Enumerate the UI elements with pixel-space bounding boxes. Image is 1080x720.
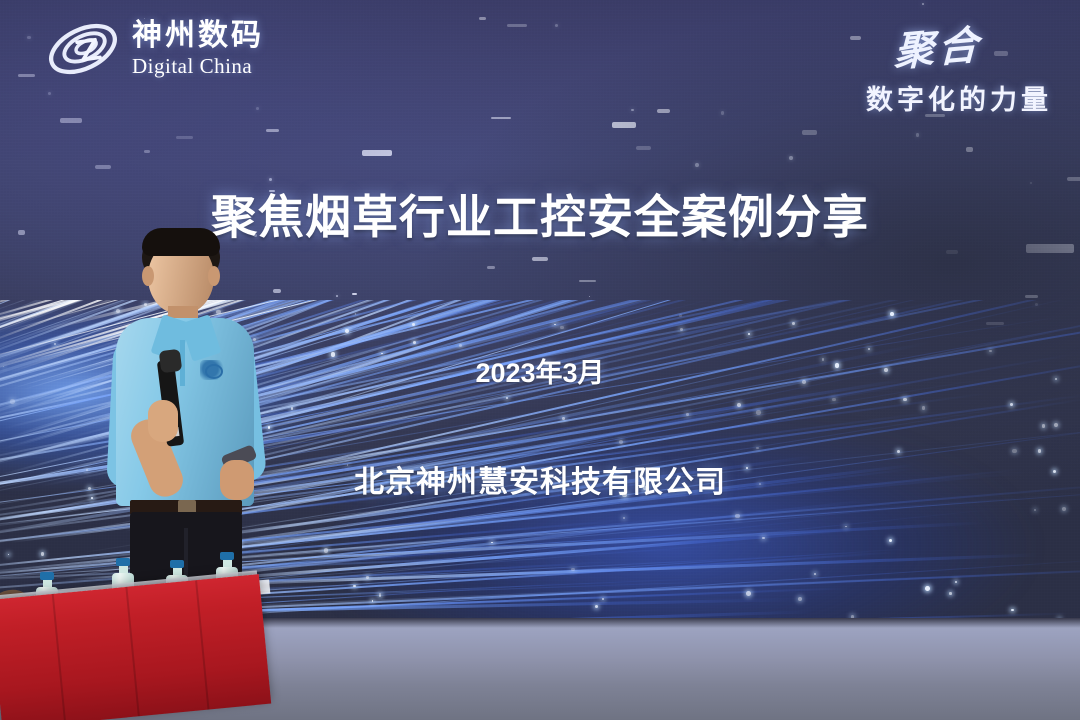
- shirt-chest-logo-ring-icon: [205, 364, 223, 379]
- wave-sparkle: [562, 417, 565, 420]
- background-speck: [95, 165, 112, 169]
- wave-sparkle: [602, 598, 604, 600]
- wave-sparkle: [949, 592, 952, 595]
- background-speck: [18, 74, 35, 77]
- background-speck: [589, 296, 591, 298]
- wave-sparkle: [922, 406, 926, 410]
- background-speck: [695, 163, 699, 167]
- digital-china-swirl-icon: [44, 18, 122, 80]
- wave-sparkle: [792, 322, 795, 325]
- wave-sparkle: [345, 329, 349, 333]
- background-speck: [946, 250, 958, 254]
- wave-sparkle: [756, 410, 761, 415]
- background-speck: [176, 136, 193, 139]
- wave-sparkle: [571, 568, 575, 572]
- background-speck: [491, 117, 510, 119]
- background-speck: [657, 109, 670, 113]
- tablecloth-fold: [52, 594, 66, 720]
- speaker-fringe: [142, 228, 220, 256]
- wave-sparkle: [10, 399, 15, 404]
- background-speck: [48, 92, 51, 95]
- background-speck: [1025, 295, 1038, 298]
- tablecloth-fold: [195, 580, 209, 710]
- wave-sparkle: [1034, 509, 1036, 511]
- bottle-neck: [223, 560, 232, 567]
- wave-sparkle: [366, 576, 369, 579]
- wave-sparkle: [737, 403, 741, 407]
- background-speck: [966, 147, 973, 152]
- wave-sparkle: [897, 450, 900, 453]
- background-light-bar: [612, 122, 636, 128]
- event-slogan: 聚合 数字化的力量: [866, 16, 1052, 117]
- wave-sparkle: [925, 586, 930, 591]
- speaker-ear-right: [208, 266, 220, 286]
- slogan-subline: 数字化的力量: [866, 78, 1052, 117]
- wave-sparkle: [735, 514, 739, 518]
- background-speck: [721, 111, 725, 115]
- speaker-hand-left: [148, 400, 178, 442]
- slogan-headline: 聚合: [894, 12, 983, 78]
- wave-sparkle: [560, 326, 563, 329]
- wave-sparkle: [756, 447, 758, 449]
- wave-sparkle: [291, 407, 294, 410]
- bottle-neck: [119, 566, 128, 573]
- background-speck: [532, 257, 548, 261]
- wave-sparkle: [41, 552, 45, 556]
- background-speck: [479, 17, 486, 19]
- wave-sparkle: [324, 548, 328, 552]
- wave-sparkle: [1042, 424, 1046, 428]
- speaker-hand-right: [220, 460, 254, 500]
- background-speck: [579, 280, 597, 282]
- background-speck: [922, 3, 924, 5]
- microphone-head-icon: [159, 349, 183, 373]
- wave-sparkle: [1038, 449, 1042, 453]
- background-speck: [266, 129, 279, 132]
- wave-sparkle: [8, 554, 9, 555]
- wave-sparkle: [686, 413, 688, 415]
- background-speck: [789, 156, 793, 160]
- logo-name-en: Digital China: [132, 56, 264, 77]
- background-speck: [631, 109, 633, 111]
- bottle-cap: [220, 552, 234, 560]
- background-light-bar: [362, 150, 392, 156]
- wave-sparkle: [379, 593, 381, 595]
- background-speck: [352, 293, 358, 295]
- wave-sparkle: [459, 344, 462, 347]
- background-speck: [850, 36, 861, 40]
- wave-sparkle: [955, 581, 957, 583]
- background-speck: [256, 107, 259, 110]
- tablecloth-fold: [125, 587, 139, 717]
- background-speck: [336, 295, 338, 297]
- wave-sparkle: [903, 398, 907, 402]
- background-speck: [27, 36, 30, 39]
- bottle-neck: [43, 580, 52, 587]
- background-light-bar: [60, 118, 82, 123]
- wave-sparkle: [491, 542, 493, 544]
- wave-sparkle: [413, 341, 416, 344]
- wave-sparkle: [868, 348, 871, 351]
- logo-name-cn: 神州数码: [132, 21, 264, 51]
- wave-sparkle: [619, 440, 623, 444]
- background-speck: [555, 24, 558, 27]
- background-speck: [144, 150, 150, 153]
- background-speck: [802, 130, 817, 135]
- wave-sparkle: [1011, 609, 1013, 611]
- wave-sparkle: [372, 600, 374, 602]
- wave-sparkle: [595, 605, 598, 608]
- speaker-ear-left: [142, 266, 154, 286]
- background-speck: [487, 266, 495, 268]
- digital-china-logo: 神州数码 Digital China: [44, 18, 264, 80]
- bottle-neck: [173, 568, 182, 575]
- background-speck: [636, 146, 651, 151]
- background-speck: [507, 24, 527, 27]
- wave-sparkle: [832, 398, 835, 401]
- bottle-cap: [170, 560, 184, 568]
- bottle-cap: [116, 558, 130, 566]
- wave-sparkle: [748, 333, 750, 335]
- photo-stage: 神州数码 Digital China 聚合 数字化的力量 聚焦烟草行业工控安全案…: [0, 0, 1080, 720]
- red-tablecloth: [0, 574, 271, 720]
- wave-sparkle: [746, 591, 751, 596]
- bottle-cap: [40, 572, 54, 580]
- background-speck: [916, 133, 919, 136]
- wave-sparkle: [814, 573, 816, 575]
